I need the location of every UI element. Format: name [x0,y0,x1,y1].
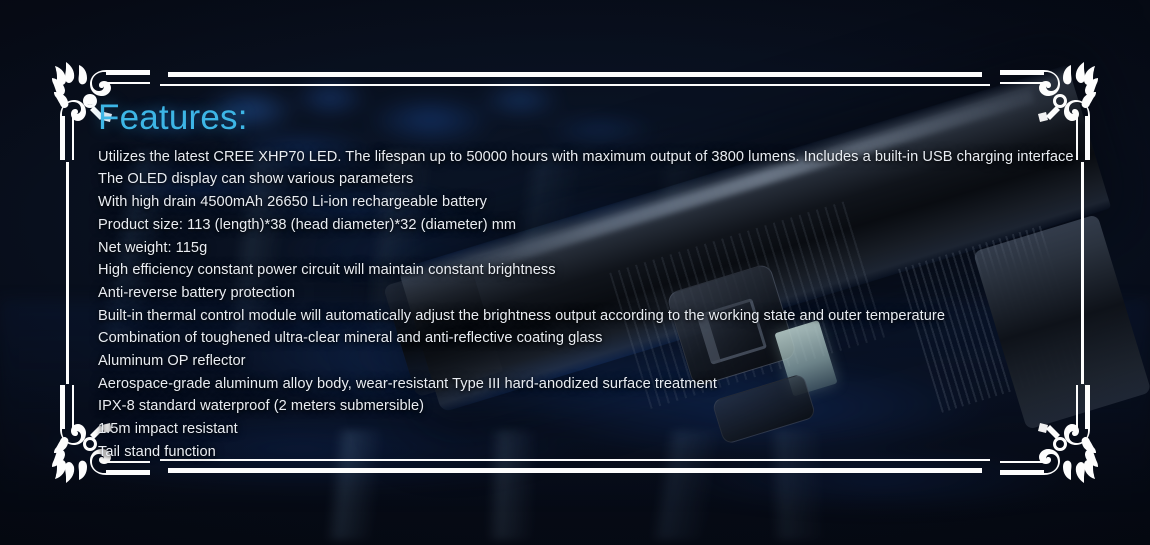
feature-list-item: IPX-8 standard waterproof (2 meters subm… [98,395,1058,418]
feature-list-item: Product size: 113 (length)*38 (head diam… [98,214,1058,237]
feature-list-item: Utilizes the latest CREE XHP70 LED. The … [98,146,1058,169]
feature-list-item: Combination of toughened ultra-clear min… [98,327,1058,350]
feature-list-item: The OLED display can show various parame… [98,168,1058,191]
features-list: Utilizes the latest CREE XHP70 LED. The … [98,146,1058,464]
feature-list-item: Aerospace-grade aluminum alloy body, wea… [98,373,1058,396]
feature-list-item: Built-in thermal control module will aut… [98,305,1058,328]
features-content: Features: Utilizes the latest CREE XHP70… [98,100,1058,464]
feature-list-item: Net weight: 115g [98,237,1058,260]
feature-list-item: 1.5m impact resistant [98,418,1058,441]
feature-list-item: Anti-reverse battery protection [98,282,1058,305]
feature-panel-screenshot: Features: Utilizes the latest CREE XHP70… [0,0,1150,545]
page-title: Features: [98,100,1058,137]
feature-list-item: High efficiency constant power circuit w… [98,259,1058,282]
frame-rail-top-inner [160,84,990,86]
frame-rail-right [1081,162,1084,384]
frame-rail-bottom-outer [168,468,982,473]
feature-list-item: With high drain 4500mAh 26650 Li-ion rec… [98,191,1058,214]
frame-rail-left [66,162,69,384]
feature-list-item: Tail stand function [98,441,1058,464]
feature-list-item: Aluminum OP reflector [98,350,1058,373]
frame-rail-top-outer [168,72,982,77]
